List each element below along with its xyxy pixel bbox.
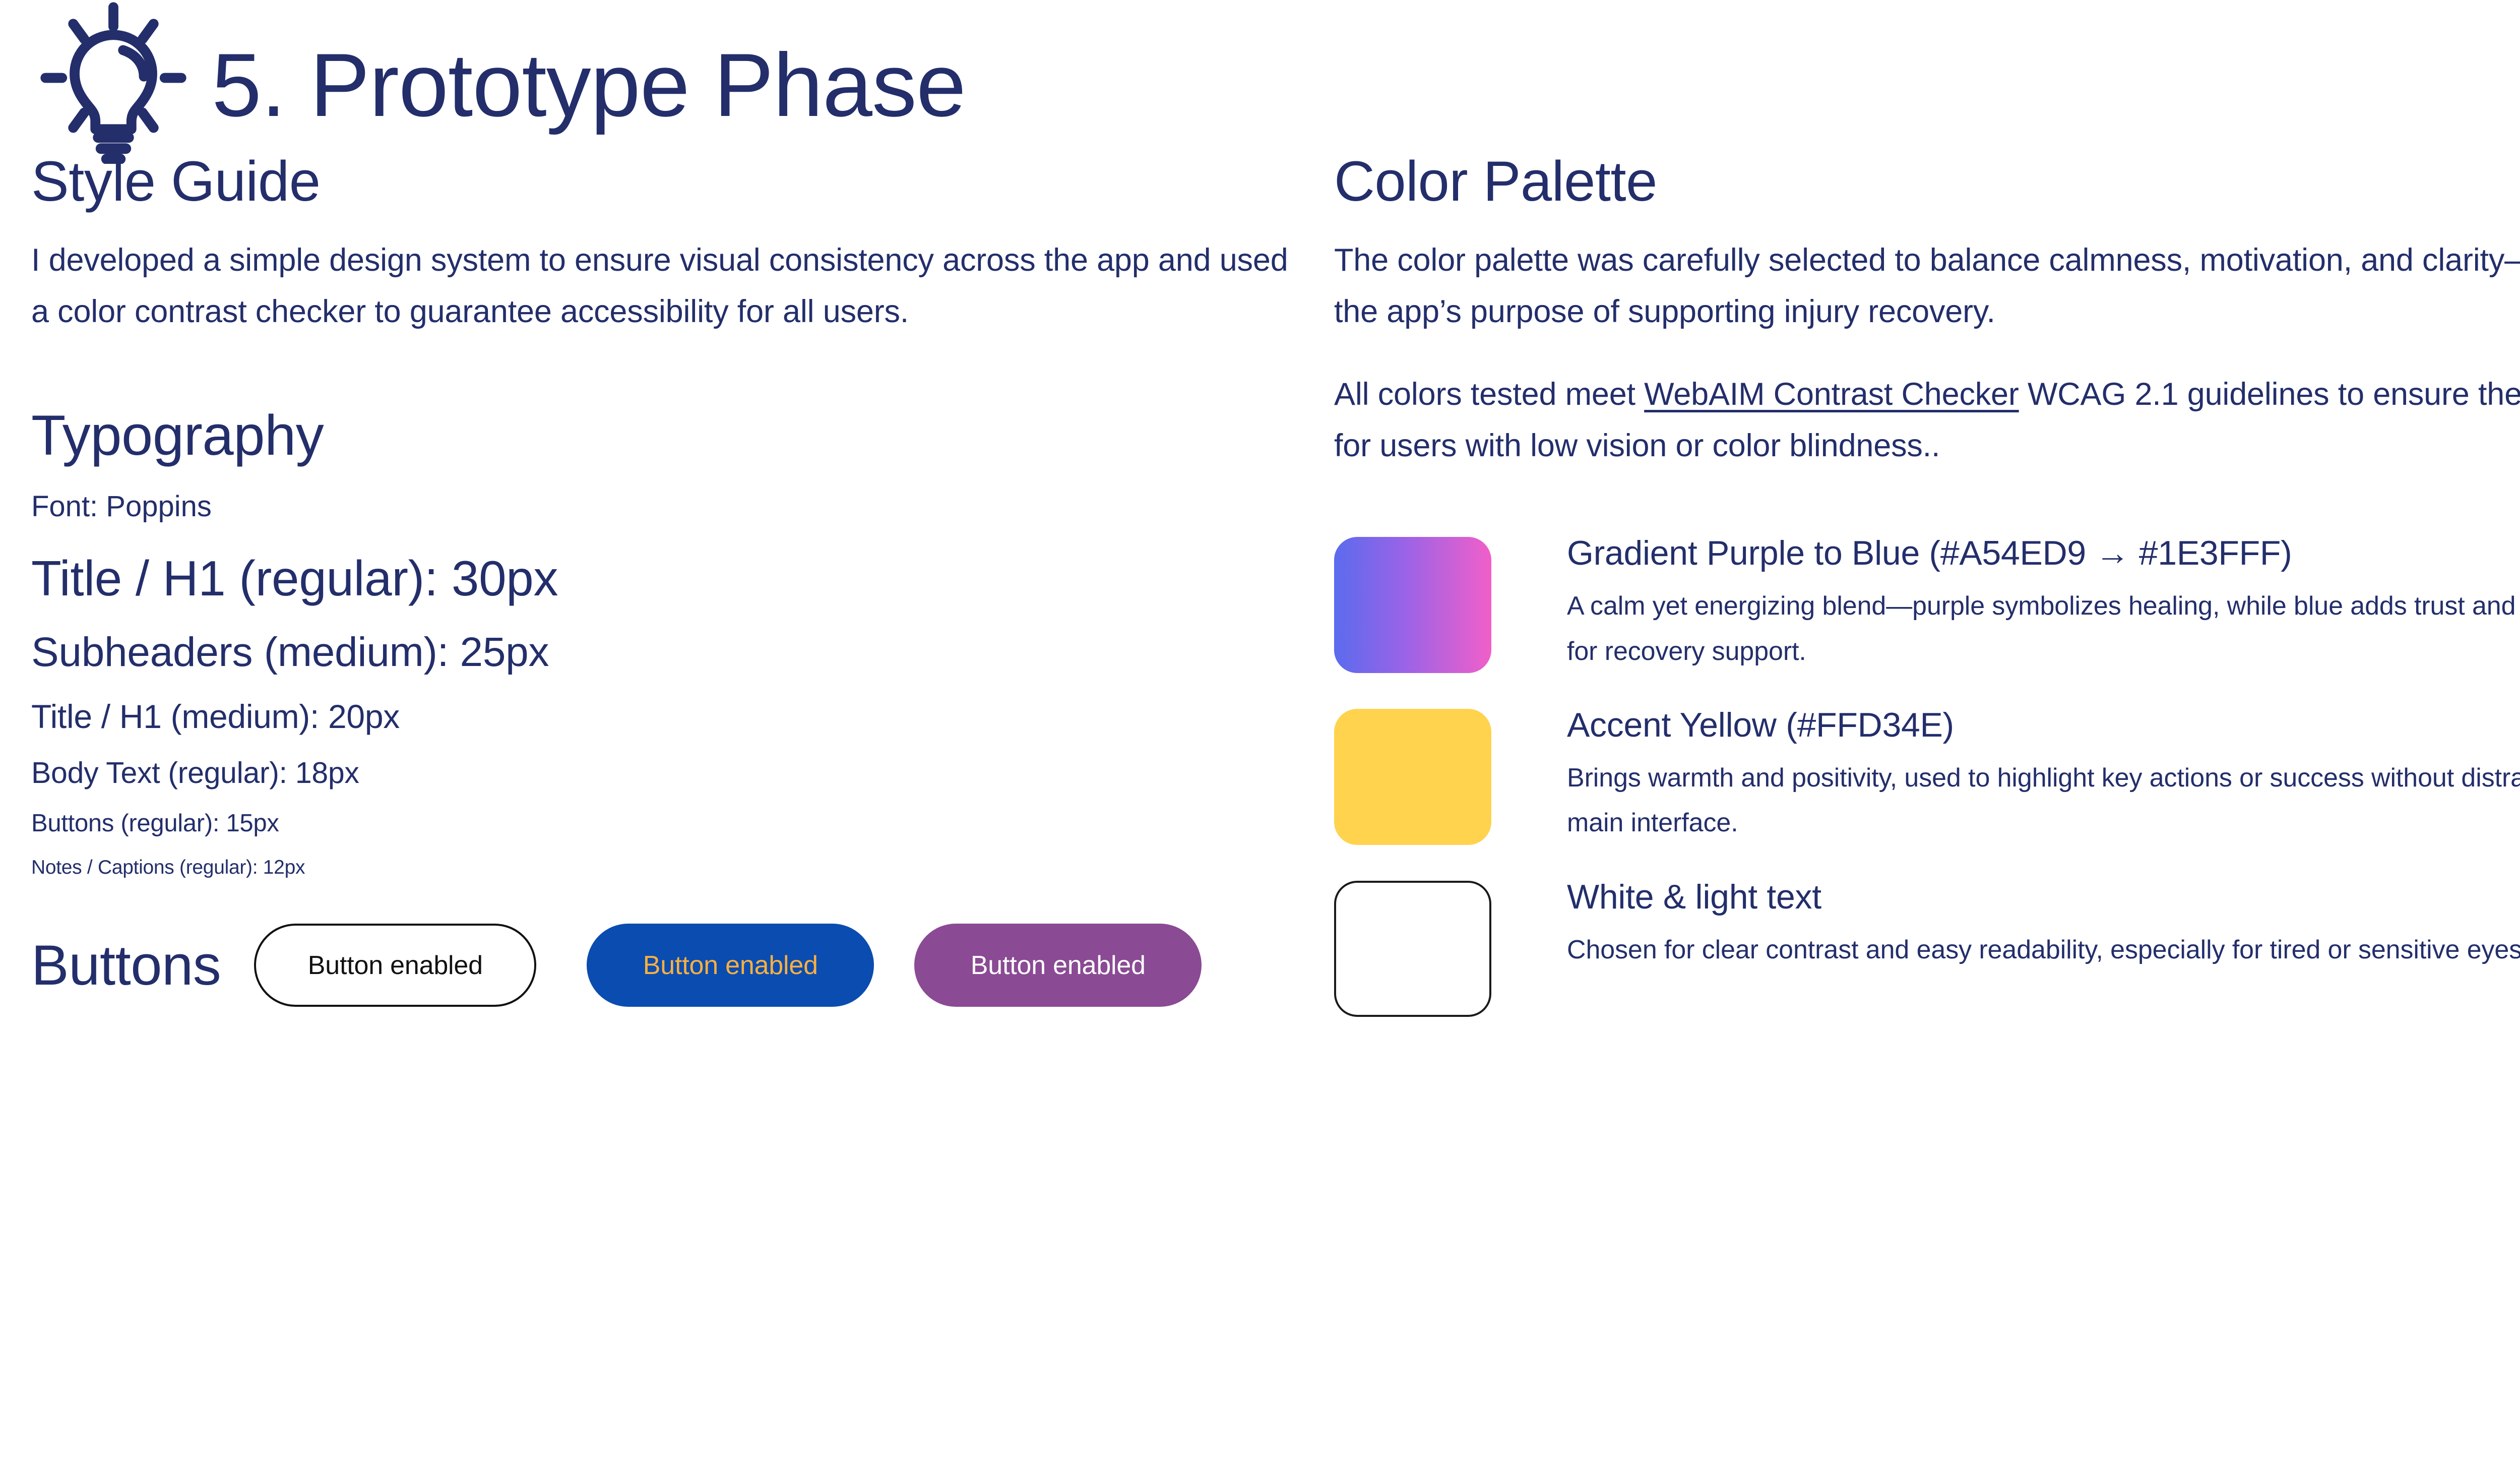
- type-sample-h1-regular: Title / H1 (regular): 30px: [31, 547, 1306, 611]
- swatch-text-yellow: Accent Yellow (#FFD34E) Brings warmth an…: [1567, 702, 2520, 846]
- swatch-white-light-text: [1334, 881, 1491, 1017]
- typography-font-note: Font: Poppins: [31, 489, 1306, 525]
- swatch-gradient-purple-blue: [1334, 537, 1491, 673]
- content-columns: Style Guide I developed a simple design …: [0, 151, 2520, 1045]
- webaim-contrast-checker-link[interactable]: WebAIM Contrast Checker: [1644, 377, 2019, 412]
- paragraph-2-text-before: All colors tested meet: [1334, 377, 1644, 412]
- swatch-heading-yellow: Accent Yellow (#FFD34E): [1567, 704, 2520, 747]
- type-sample-buttons: Buttons (regular): 15px: [31, 808, 1306, 840]
- buttons-section: Buttons Button enabled Button enabled Bu…: [31, 924, 1306, 1007]
- color-palette-heading: Color Palette: [1334, 151, 2520, 212]
- paragraph-spacer: [1334, 337, 2520, 369]
- left-column: Style Guide I developed a simple design …: [31, 151, 1306, 1045]
- type-sample-notes-captions: Notes / Captions (regular): 12px: [31, 855, 1306, 881]
- swatch-description-white: Chosen for clear contrast and easy reada…: [1567, 928, 2520, 973]
- palette-row-white: White & light text Chosen for clear cont…: [1334, 874, 2520, 1017]
- type-sample-subheaders: Subheaders (medium): 25px: [31, 626, 1306, 680]
- swatch-description-yellow: Brings warmth and positivity, used to hi…: [1567, 756, 2520, 846]
- swatch-accent-yellow: [1334, 709, 1491, 845]
- button-enabled-primary[interactable]: Button enabled: [587, 924, 874, 1007]
- color-palette-paragraph-1: The color palette was carefully selected…: [1334, 234, 2520, 337]
- page-title: 5. Prototype Phase: [212, 40, 966, 130]
- swatch-description-gradient: A calm yet energizing blend—purple symbo…: [1567, 584, 2520, 674]
- color-palette-paragraph-2: All colors tested meet WebAIM Contrast C…: [1334, 369, 2520, 471]
- palette-row-yellow: Accent Yellow (#FFD34E) Brings warmth an…: [1334, 702, 2520, 846]
- swatch-text-white: White & light text Chosen for clear cont…: [1567, 874, 2520, 973]
- typography-heading: Typography: [31, 405, 1306, 466]
- swatch-heading-gradient: Gradient Purple to Blue (#A54ED9 → #1E3F…: [1567, 532, 2520, 575]
- type-sample-h1-medium: Title / H1 (medium): 20px: [31, 695, 1306, 739]
- buttons-heading: Buttons: [31, 937, 221, 994]
- right-column: Color Palette The color palette was care…: [1334, 151, 2520, 1045]
- button-enabled-secondary[interactable]: Button enabled: [914, 924, 1202, 1007]
- button-enabled-outline[interactable]: Button enabled: [254, 924, 536, 1007]
- swatch-heading-white: White & light text: [1567, 876, 2520, 919]
- style-guide-heading: Style Guide: [31, 151, 1306, 212]
- page-header: 5. Prototype Phase: [0, 0, 2520, 151]
- swatch-text-gradient: Gradient Purple to Blue (#A54ED9 → #1E3F…: [1567, 530, 2520, 674]
- typography-section: Typography Font: Poppins Title / H1 (reg…: [31, 405, 1306, 880]
- lightbulb-icon: [30, 0, 197, 164]
- palette-row-gradient: Gradient Purple to Blue (#A54ED9 → #1E3F…: [1334, 530, 2520, 674]
- type-sample-body-text: Body Text (regular): 18px: [31, 754, 1306, 793]
- palette-swatch-list: Gradient Purple to Blue (#A54ED9 → #1E3F…: [1334, 530, 2520, 1017]
- style-guide-body: I developed a simple design system to en…: [31, 234, 1306, 337]
